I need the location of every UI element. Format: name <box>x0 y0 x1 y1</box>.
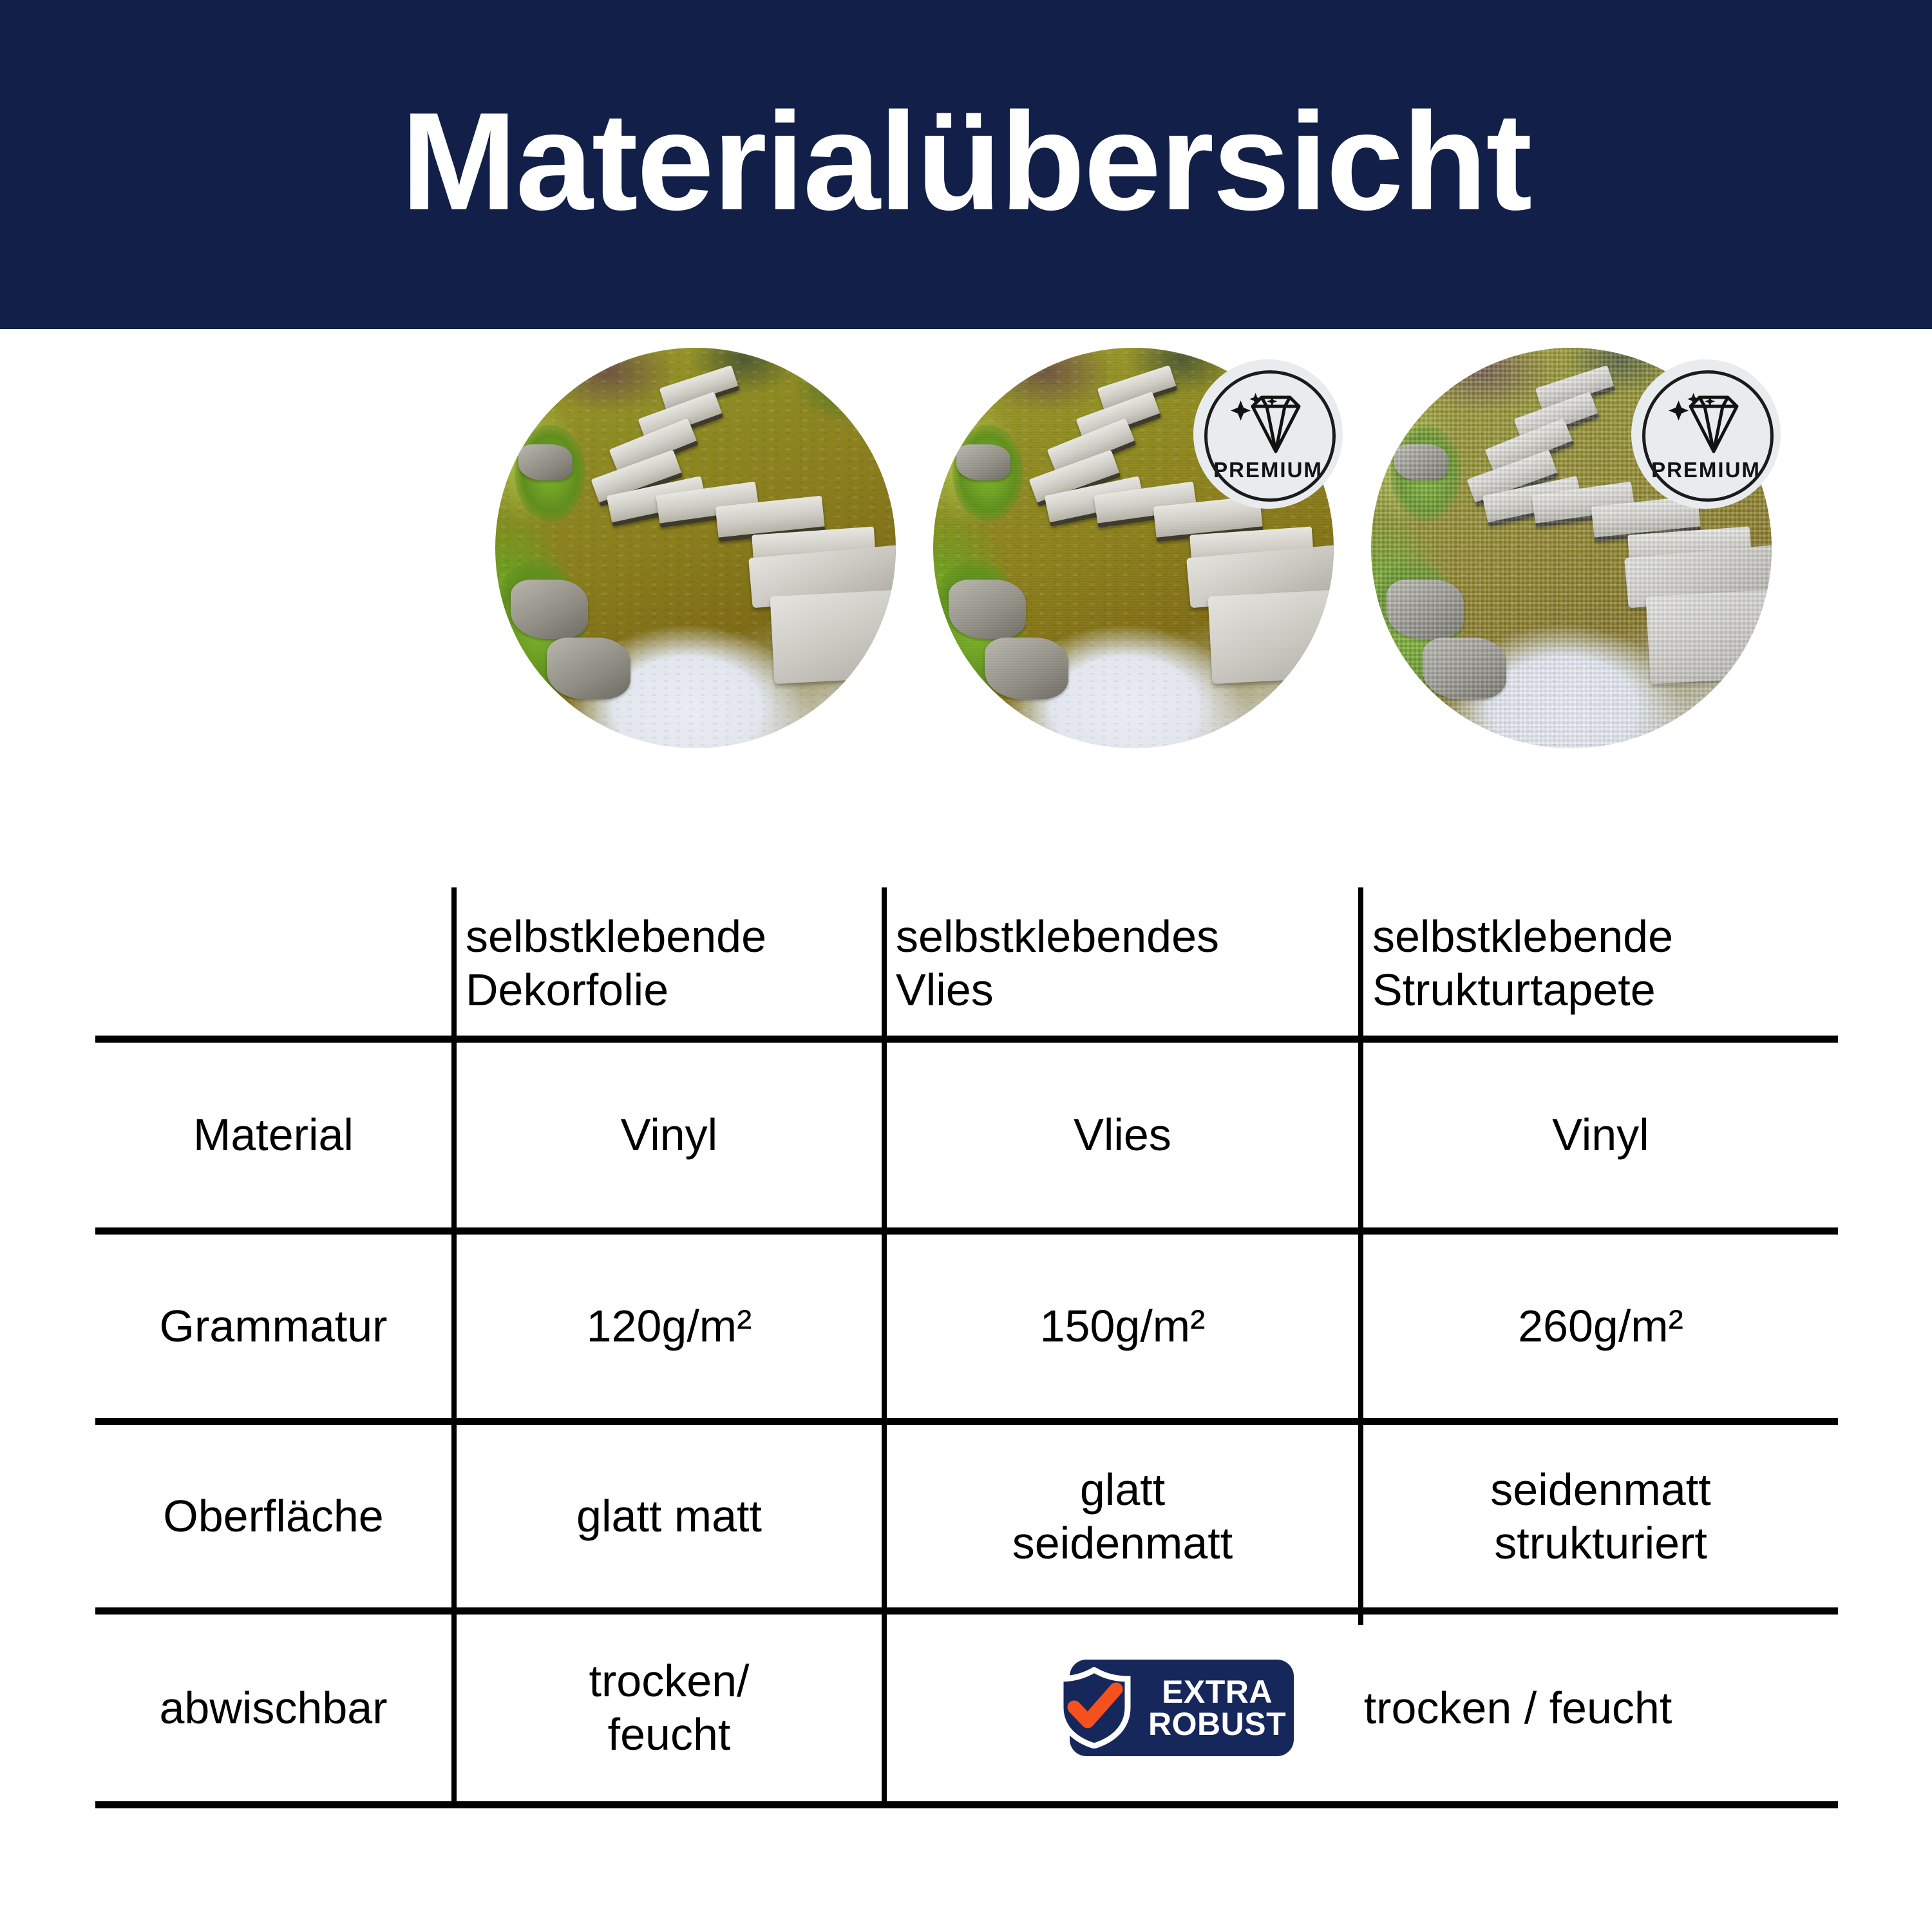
cell-oberflaeche-vlies: glatt seidenmatt <box>887 1425 1358 1607</box>
sample-image-dekorfolie <box>495 348 896 748</box>
row-label-material: Material <box>95 1043 451 1227</box>
row-label-text: Oberfläche <box>95 1490 451 1543</box>
table-rule <box>95 1801 1838 1808</box>
page-header: Materialübersicht <box>0 0 1932 329</box>
robust-line-2: ROBUST <box>1148 1708 1286 1740</box>
material-sample-row: PREMIUM <box>0 348 1932 760</box>
premium-badge: PREMIUM <box>1193 359 1343 509</box>
cell-abwischbar-merged: EXTRA ROBUST trocken / feucht <box>887 1615 1838 1801</box>
sample-vlies: PREMIUM <box>933 348 1334 748</box>
row-label-text: abwischbar <box>95 1681 451 1735</box>
diamond-icon <box>1666 392 1746 454</box>
table-header-vlies: selbstklebendes Vlies <box>887 891 1358 1036</box>
sample-strukturtapete: PREMIUM <box>1371 348 1772 748</box>
table-rule <box>95 1607 1838 1615</box>
wipe-line-2: feucht <box>463 1708 875 1761</box>
wipe-line-1: trocken/ <box>463 1654 875 1708</box>
table-rule <box>95 1036 1838 1043</box>
row-label-oberflaeche: Oberfläche <box>95 1425 451 1607</box>
surface-line-1: glatt <box>893 1463 1352 1517</box>
cell-oberflaeche-strukturtapete: seidenmatt strukturiert <box>1363 1425 1838 1607</box>
page-title: Materialübersicht <box>401 91 1531 231</box>
diamond-icon <box>1228 392 1308 454</box>
table-rule <box>95 1227 1838 1235</box>
surface-line-2: seidenmatt <box>893 1517 1352 1570</box>
table-rule <box>95 1418 1838 1425</box>
surface-line-1: seidenmatt <box>1370 1463 1832 1517</box>
header-line-2: Strukturtapete <box>1372 963 1829 1017</box>
extra-robust-badge: EXTRA ROBUST <box>1070 1660 1294 1756</box>
shield-check-icon <box>1053 1667 1135 1748</box>
cell-material-vlies: Vlies <box>887 1043 1358 1227</box>
table-divider <box>1358 887 1363 1625</box>
cell-abwischbar-dekorfolie: trocken/ feucht <box>457 1615 882 1801</box>
cell-grammatur-strukturtapete: 260g/m² <box>1363 1235 1838 1418</box>
cell-oberflaeche-dekorfolie: glatt matt <box>457 1425 882 1607</box>
header-line-2: Dekorfolie <box>466 963 873 1017</box>
cell-material-dekorfolie: Vinyl <box>457 1043 882 1227</box>
table-header-strukturtapete: selbstklebende Strukturtapete <box>1363 891 1838 1036</box>
cell-grammatur-vlies: 150g/m² <box>887 1235 1358 1418</box>
abwischbar-merged-text: trocken / feucht <box>1338 1615 1698 1801</box>
cell-material-strukturtapete: Vinyl <box>1363 1043 1838 1227</box>
header-line-1: selbstklebende <box>466 910 873 963</box>
row-label-text: Material <box>95 1108 451 1162</box>
row-label-grammatur: Grammatur <box>95 1235 451 1418</box>
table-divider <box>451 887 457 1804</box>
header-line-1: selbstklebendes <box>896 910 1349 963</box>
table-header-dekorfolie: selbstklebende Dekorfolie <box>457 891 882 1036</box>
material-comparison-table: selbstklebende Dekorfolie selbstklebende… <box>95 860 1838 1808</box>
header-line-2: Vlies <box>896 963 1349 1017</box>
cell-grammatur-dekorfolie: 120g/m² <box>457 1235 882 1418</box>
surface-line-2: strukturiert <box>1370 1517 1832 1570</box>
table-divider <box>882 887 887 1804</box>
row-label-abwischbar: abwischbar <box>95 1615 451 1801</box>
premium-badge: PREMIUM <box>1631 359 1781 509</box>
row-label-text: Grammatur <box>95 1300 451 1353</box>
sample-dekorfolie <box>495 348 896 748</box>
header-line-1: selbstklebende <box>1372 910 1829 963</box>
robust-line-1: EXTRA <box>1148 1676 1286 1708</box>
